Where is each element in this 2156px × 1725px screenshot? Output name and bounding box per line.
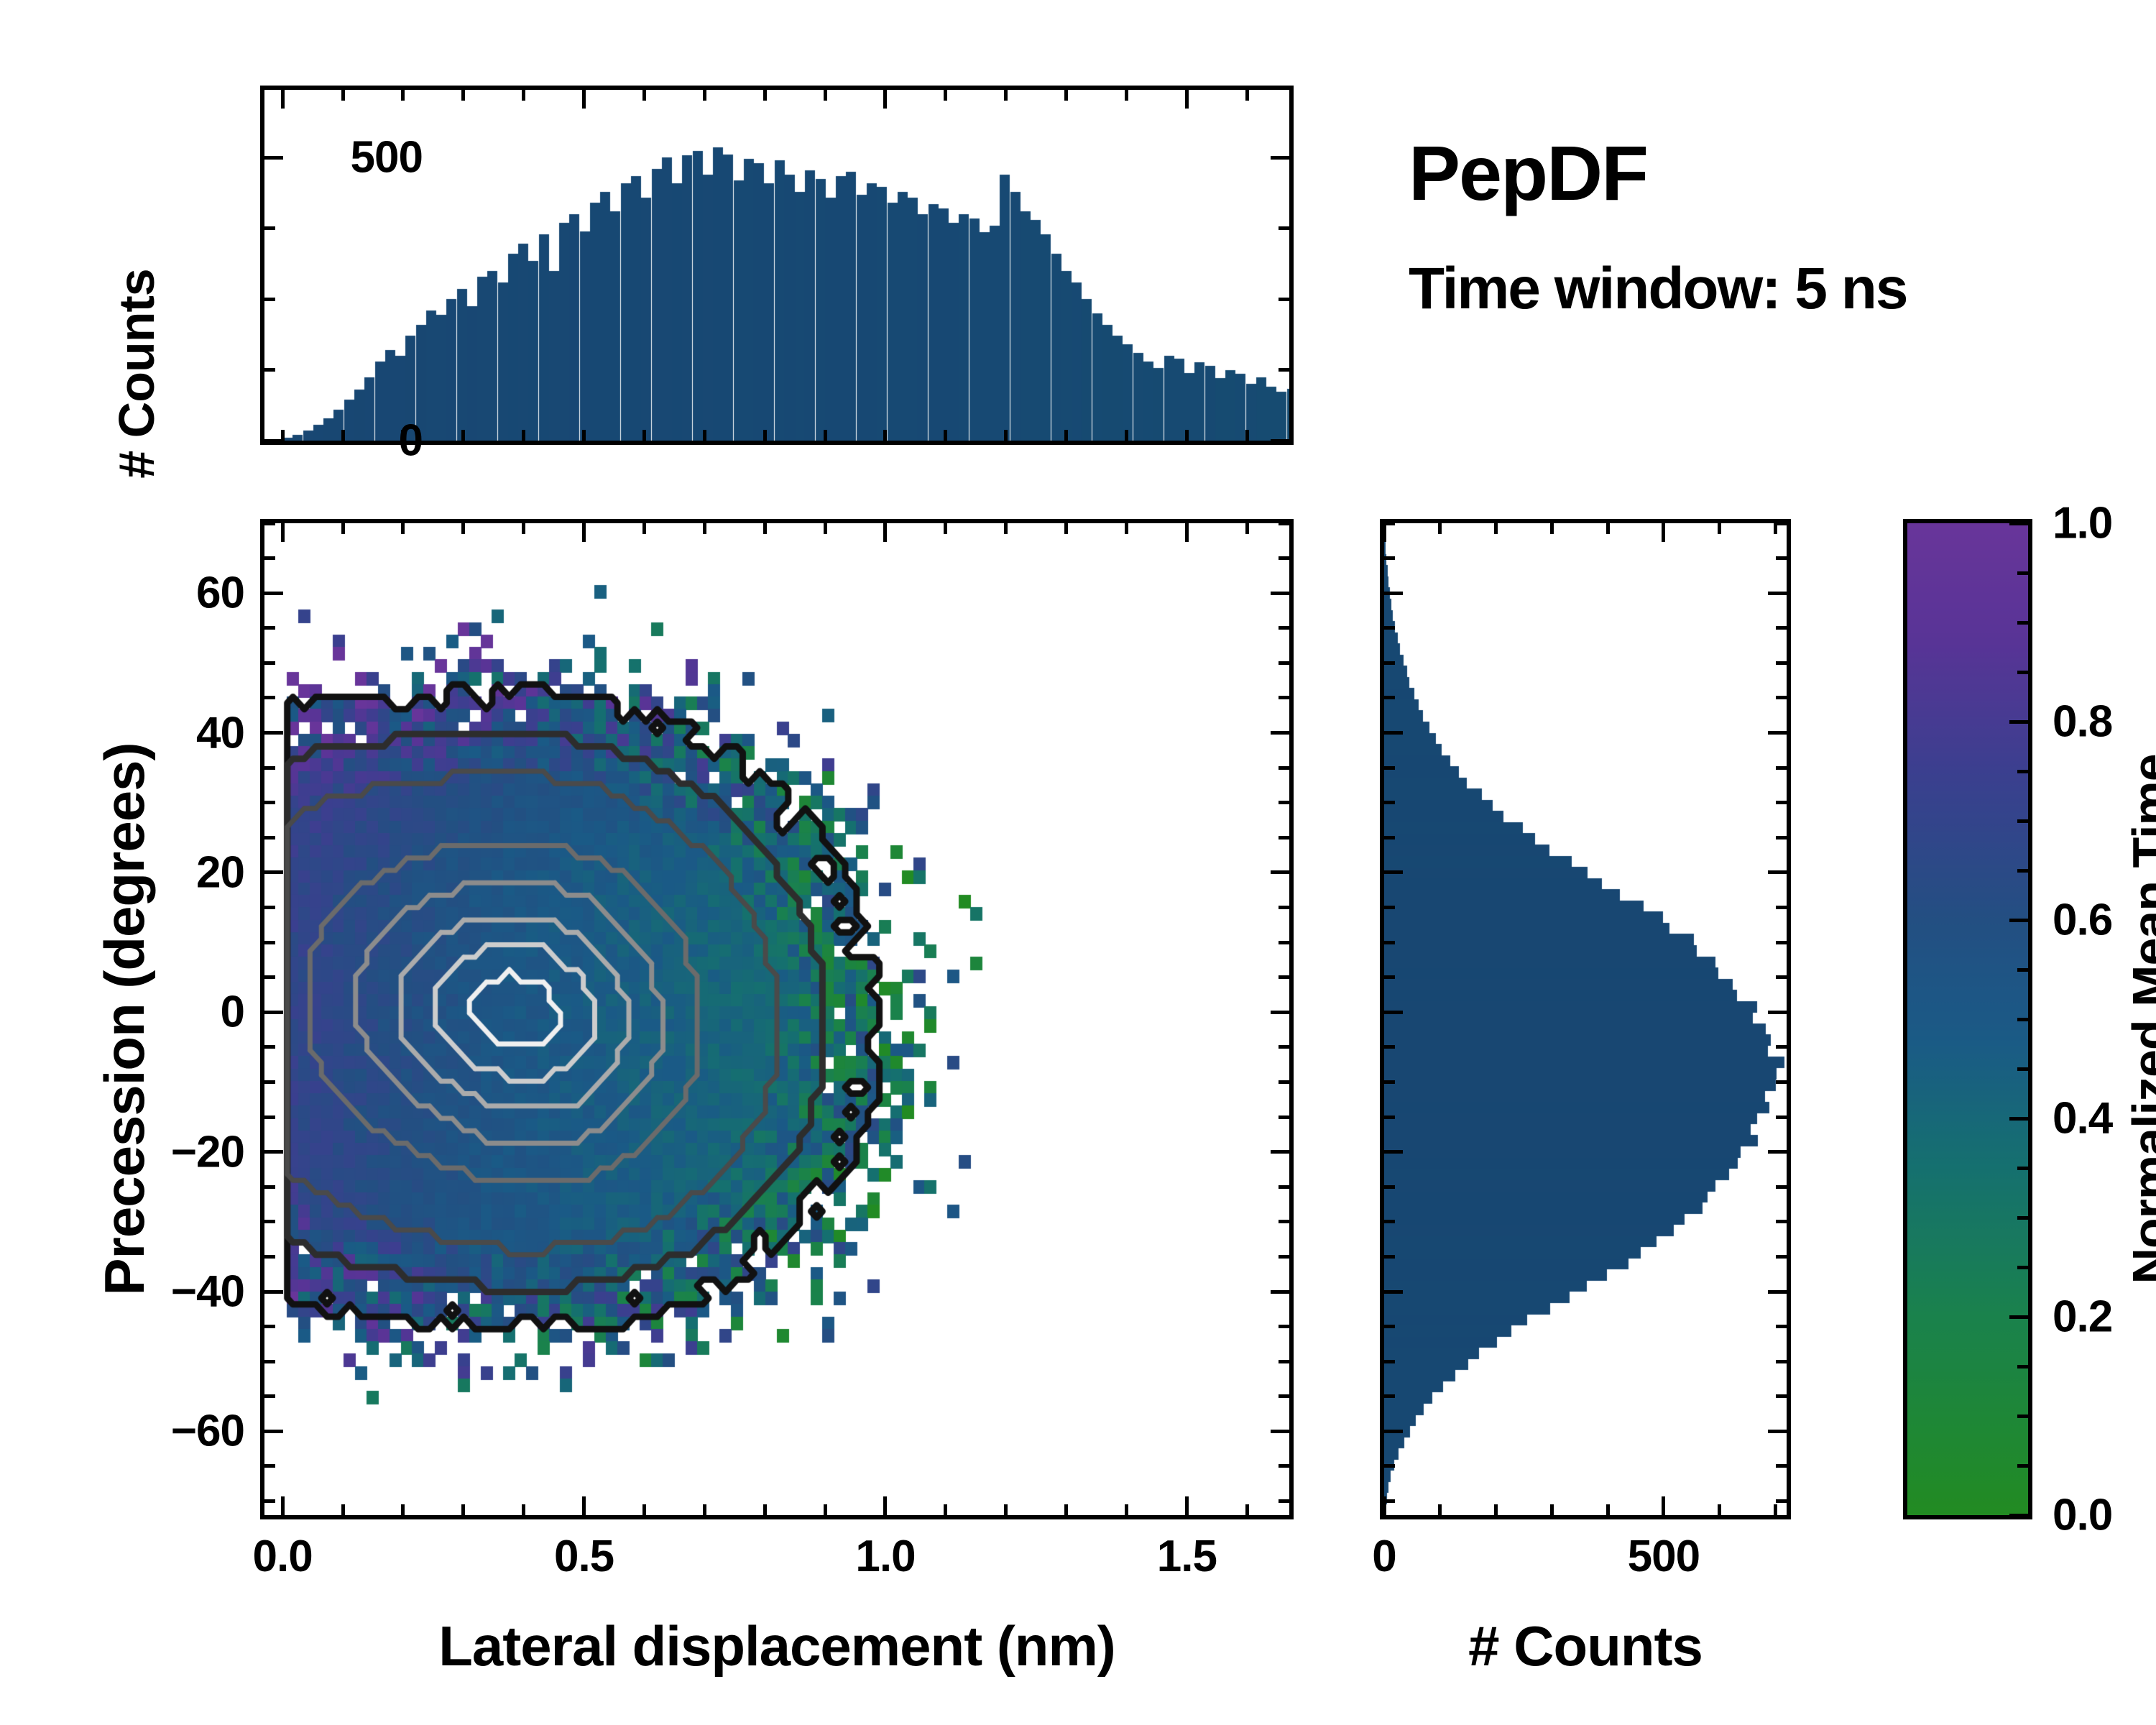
top-ytick-minor-right bbox=[1279, 439, 1289, 443]
right-xtick-minor-top bbox=[1550, 523, 1554, 534]
top-xtick-minor bbox=[763, 90, 767, 101]
main-xtick-minor bbox=[703, 1504, 706, 1515]
right-ytick-major bbox=[1384, 1430, 1403, 1433]
main-ytick-minor bbox=[264, 975, 275, 979]
colorbar-tick-minor bbox=[2017, 671, 2028, 674]
colorbar-tick-major bbox=[2009, 919, 2028, 922]
main-ytick-minor-right bbox=[1279, 696, 1289, 699]
main-ytick-minor-right bbox=[1279, 1045, 1289, 1049]
main-ytick-minor-right bbox=[1279, 836, 1289, 839]
top-xtick-minor-bottom bbox=[341, 430, 345, 441]
colorbar-tick-major bbox=[2009, 1315, 2028, 1319]
colorbar-label: Normalized Mean Time bbox=[2122, 754, 2156, 1284]
top-xtick-minor bbox=[944, 90, 947, 101]
main-xtick-minor bbox=[401, 1504, 405, 1515]
colorbar-tick-minor bbox=[2017, 1167, 2028, 1170]
right-ytick-minor-right bbox=[1776, 975, 1787, 979]
right-ytick-minor bbox=[1384, 1185, 1395, 1189]
top-xtick-minor bbox=[883, 90, 887, 101]
main-ytick-minor bbox=[264, 626, 275, 630]
right-panel-xlabel: # Counts bbox=[1468, 1614, 1703, 1679]
colorbar-tick-minor bbox=[2017, 1018, 2028, 1021]
main-ytick-major-right bbox=[1271, 1290, 1289, 1294]
right-xtick-major-top bbox=[1662, 523, 1665, 542]
right-ytick-minor-right bbox=[1776, 1255, 1787, 1259]
top-panel-ylabel: # Counts bbox=[108, 269, 165, 478]
main-ytick-major-right bbox=[1271, 1011, 1289, 1014]
colorbar-tick-minor bbox=[2017, 968, 2028, 972]
main-ytick-minor-right bbox=[1279, 1325, 1289, 1328]
right-ytick-minor bbox=[1384, 975, 1395, 979]
right-ytick-minor-right bbox=[1776, 941, 1787, 944]
top-xtick-minor bbox=[703, 90, 706, 101]
top-xtick-minor-bottom bbox=[582, 430, 586, 441]
right-ytick-minor-right bbox=[1776, 1394, 1787, 1398]
right-ytick-minor bbox=[1384, 1464, 1395, 1468]
main-ytick-minor-right bbox=[1279, 1080, 1289, 1084]
colorbar-tick-label: 0.8 bbox=[2053, 696, 2156, 747]
right-ytick-minor bbox=[1384, 1394, 1395, 1398]
right-xtick-minor-top bbox=[1438, 523, 1442, 534]
colorbar-tick-minor bbox=[2017, 1414, 2028, 1418]
main-ytick-minor-right bbox=[1279, 522, 1289, 525]
right-ytick-minor-right bbox=[1776, 1115, 1787, 1119]
right-ytick-minor bbox=[1384, 522, 1395, 525]
main-xtick-major-top bbox=[281, 523, 285, 542]
right-ytick-minor bbox=[1384, 1045, 1395, 1049]
top-xtick-minor bbox=[522, 90, 525, 101]
right-ytick-major bbox=[1384, 1150, 1403, 1154]
top-ytick-minor bbox=[264, 226, 275, 230]
main-ytick-minor bbox=[264, 1499, 275, 1503]
main-xtick-minor-top bbox=[341, 523, 345, 534]
right-xtick-minor-top bbox=[1494, 523, 1498, 534]
main-ytick-minor bbox=[264, 1360, 275, 1363]
right-ytick-minor-right bbox=[1776, 661, 1787, 665]
top-xtick-minor bbox=[461, 90, 465, 101]
right-marginal-panel bbox=[1380, 519, 1791, 1519]
right-ytick-minor-right bbox=[1776, 1220, 1787, 1223]
right-ytick-minor bbox=[1384, 661, 1395, 665]
main-ytick-major bbox=[264, 1150, 283, 1154]
main-ytick-minor-right bbox=[1279, 1185, 1289, 1189]
figure-root: 0500 # Counts 0.00.51.01.56040200−20−40−… bbox=[0, 0, 2156, 1725]
main-xtick-minor bbox=[763, 1504, 767, 1515]
top-xtick-minor-bottom bbox=[642, 430, 646, 441]
top-xtick-minor-bottom bbox=[461, 430, 465, 441]
main-ytick-minor bbox=[264, 661, 275, 665]
right-xtick-minor-top bbox=[1718, 523, 1721, 534]
main-xtick-minor bbox=[461, 1504, 465, 1515]
top-xtick-minor-bottom bbox=[522, 430, 525, 441]
main-ytick-minor bbox=[264, 1325, 275, 1328]
right-ytick-major-right bbox=[1768, 1290, 1787, 1294]
right-ytick-minor bbox=[1384, 836, 1395, 839]
top-xtick-minor-bottom bbox=[883, 430, 887, 441]
main-ytick-major bbox=[264, 870, 283, 874]
main-ytick-minor bbox=[264, 1464, 275, 1468]
top-ytick-minor-right bbox=[1279, 226, 1289, 230]
main-xtick-minor-top bbox=[461, 523, 465, 534]
figure-title: PepDF bbox=[1409, 128, 1647, 218]
main-panel-xlabel: Lateral displacement (nm) bbox=[438, 1614, 1115, 1679]
right-ytick-minor bbox=[1384, 906, 1395, 909]
main-xtick-minor-top bbox=[763, 523, 767, 534]
main-xtick-minor-top bbox=[824, 523, 827, 534]
colorbar-tick-minor bbox=[2017, 1266, 2028, 1269]
top-xtick-minor-bottom bbox=[1245, 430, 1249, 441]
main-ytick-minor-right bbox=[1279, 906, 1289, 909]
main-xtick-major bbox=[582, 1496, 586, 1515]
right-xtick-label: 500 bbox=[1628, 1531, 1700, 1582]
main-xtick-label: 0.5 bbox=[554, 1531, 614, 1582]
main-xtick-label: 1.5 bbox=[1157, 1531, 1217, 1582]
right-xtick-minor bbox=[1606, 1504, 1610, 1515]
main-ytick-minor bbox=[264, 941, 275, 944]
right-ytick-minor-right bbox=[1776, 1360, 1787, 1363]
main-ytick-minor bbox=[264, 1255, 275, 1259]
right-ytick-minor bbox=[1384, 1115, 1395, 1119]
top-xtick-minor bbox=[642, 90, 646, 101]
main-ytick-minor-right bbox=[1279, 1499, 1289, 1503]
right-ytick-minor bbox=[1384, 941, 1395, 944]
right-ytick-major-right bbox=[1768, 870, 1787, 874]
top-xtick-minor-bottom bbox=[401, 430, 405, 441]
main-xtick-major-top bbox=[1185, 523, 1189, 542]
right-ytick-major bbox=[1384, 870, 1403, 874]
right-ytick-minor-right bbox=[1776, 1045, 1787, 1049]
right-xtick-minor bbox=[1494, 1504, 1498, 1515]
main-ytick-minor-right bbox=[1279, 975, 1289, 979]
top-xtick-minor-bottom bbox=[281, 430, 285, 441]
right-ytick-major bbox=[1384, 1290, 1403, 1294]
main-xtick-minor bbox=[522, 1504, 525, 1515]
right-ytick-minor bbox=[1384, 696, 1395, 699]
main-ytick-minor-right bbox=[1279, 941, 1289, 944]
main-ytick-minor-right bbox=[1279, 766, 1289, 770]
top-ytick-minor bbox=[264, 368, 275, 372]
main-ytick-minor-right bbox=[1279, 1464, 1289, 1468]
top-ytick-minor-right bbox=[1279, 156, 1289, 160]
right-ytick-major bbox=[1384, 1011, 1403, 1014]
right-ytick-minor-right bbox=[1776, 556, 1787, 560]
colorbar-tick-major bbox=[2009, 1514, 2028, 1517]
main-xtick-minor bbox=[642, 1504, 646, 1515]
top-ytick-label: 500 bbox=[243, 132, 423, 183]
main-ytick-minor bbox=[264, 1220, 275, 1223]
right-ytick-minor-right bbox=[1776, 1464, 1787, 1468]
main-ytick-major-right bbox=[1271, 731, 1289, 735]
colorbar-tick-minor bbox=[2017, 1365, 2028, 1368]
right-xtick-minor-top bbox=[1606, 523, 1610, 534]
main-ytick-major-right bbox=[1271, 592, 1289, 595]
colorbar-tick-label: 1.0 bbox=[2053, 498, 2156, 549]
top-xtick-minor bbox=[1004, 90, 1008, 101]
main-ytick-label: 60 bbox=[49, 568, 244, 619]
main-ytick-minor-right bbox=[1279, 1394, 1289, 1398]
main-ytick-minor bbox=[264, 1185, 275, 1189]
right-ytick-minor bbox=[1384, 626, 1395, 630]
main-ytick-minor-right bbox=[1279, 1360, 1289, 1363]
main-ytick-minor bbox=[264, 1080, 275, 1084]
main-xtick-minor-top bbox=[1125, 523, 1128, 534]
main-ytick-minor-right bbox=[1279, 801, 1289, 804]
right-ytick-minor-right bbox=[1776, 906, 1787, 909]
top-xtick-minor-bottom bbox=[1064, 430, 1068, 441]
main-xtick-label: 0.0 bbox=[253, 1531, 313, 1582]
main-ytick-minor-right bbox=[1279, 556, 1289, 560]
main-ytick-major-right bbox=[1271, 870, 1289, 874]
right-ytick-major bbox=[1384, 731, 1403, 735]
right-ytick-minor-right bbox=[1776, 1185, 1787, 1189]
top-ytick-minor-right bbox=[1279, 298, 1289, 301]
main-ytick-major bbox=[264, 592, 283, 595]
top-xtick-minor bbox=[824, 90, 827, 101]
top-ytick-minor-right bbox=[1279, 368, 1289, 372]
colorbar-tick-label: 0.0 bbox=[2053, 1490, 2156, 1541]
main-xtick-minor bbox=[1245, 1504, 1249, 1515]
colorbar-tick-minor bbox=[2017, 571, 2028, 575]
top-xtick-minor bbox=[1245, 90, 1249, 101]
top-xtick-minor-bottom bbox=[944, 430, 947, 441]
right-xtick-label: 0 bbox=[1372, 1531, 1396, 1582]
main-xtick-minor bbox=[944, 1504, 947, 1515]
right-ytick-minor bbox=[1384, 1360, 1395, 1363]
right-ytick-minor bbox=[1384, 1325, 1395, 1328]
right-ytick-minor-right bbox=[1776, 696, 1787, 699]
colorbar-tick-minor bbox=[2017, 1067, 2028, 1071]
main-xtick-minor-top bbox=[1064, 523, 1068, 534]
top-xtick-minor-bottom bbox=[703, 430, 706, 441]
right-xtick-major bbox=[1662, 1496, 1665, 1515]
main-xtick-minor-top bbox=[401, 523, 405, 534]
right-ytick-major bbox=[1384, 592, 1403, 595]
right-ytick-minor-right bbox=[1776, 836, 1787, 839]
top-xtick-minor bbox=[341, 90, 345, 101]
top-xtick-minor bbox=[1125, 90, 1128, 101]
colorbar-gradient bbox=[1907, 523, 2028, 1515]
right-ytick-major-right bbox=[1768, 1011, 1787, 1014]
right-ytick-minor bbox=[1384, 1080, 1395, 1084]
top-xtick-minor-bottom bbox=[1185, 430, 1189, 441]
right-ytick-major-right bbox=[1768, 731, 1787, 735]
top-xtick-minor-bottom bbox=[763, 430, 767, 441]
top-xtick-minor bbox=[1064, 90, 1068, 101]
right-ytick-major-right bbox=[1768, 1430, 1787, 1433]
right-xtick-major-top bbox=[1383, 523, 1386, 542]
colorbar-tick-minor bbox=[2017, 1216, 2028, 1220]
main-ytick-minor bbox=[264, 836, 275, 839]
top-xtick-minor-bottom bbox=[824, 430, 827, 441]
top-xtick-minor-bottom bbox=[1004, 430, 1008, 441]
main-xtick-minor bbox=[1125, 1504, 1128, 1515]
main-ytick-major-right bbox=[1271, 1150, 1289, 1154]
density-contour-canvas bbox=[264, 523, 1289, 1515]
right-ytick-minor-right bbox=[1776, 801, 1787, 804]
top-xtick-minor bbox=[401, 90, 405, 101]
main-ytick-major-right bbox=[1271, 1430, 1289, 1433]
main-ytick-minor-right bbox=[1279, 1220, 1289, 1223]
main-ytick-minor-right bbox=[1279, 1255, 1289, 1259]
right-ytick-minor bbox=[1384, 1220, 1395, 1223]
colorbar-tick-minor bbox=[2017, 819, 2028, 823]
main-xtick-minor-top bbox=[522, 523, 525, 534]
top-ytick-label: 0 bbox=[243, 415, 423, 466]
top-xtick-minor bbox=[582, 90, 586, 101]
main-panel-ylabel: Precession (degrees) bbox=[92, 742, 157, 1295]
main-xtick-minor bbox=[341, 1504, 345, 1515]
main-ytick-minor-right bbox=[1279, 1115, 1289, 1119]
right-ytick-minor-right bbox=[1776, 626, 1787, 630]
main-xtick-minor bbox=[824, 1504, 827, 1515]
right-ytick-minor bbox=[1384, 801, 1395, 804]
main-xtick-major bbox=[883, 1496, 887, 1515]
right-ytick-minor-right bbox=[1776, 1499, 1787, 1503]
colorbar bbox=[1903, 519, 2032, 1519]
main-ytick-minor-right bbox=[1279, 661, 1289, 665]
colorbar-tick-minor bbox=[2017, 621, 2028, 625]
colorbar-tick-major bbox=[2009, 522, 2028, 525]
top-xtick-minor bbox=[281, 90, 285, 101]
main-ytick-minor bbox=[264, 906, 275, 909]
main-ytick-major bbox=[264, 1290, 283, 1294]
top-xtick-minor-bottom bbox=[1125, 430, 1128, 441]
figure-subtitle: Time window: 5 ns bbox=[1409, 255, 1907, 323]
main-xtick-minor bbox=[1064, 1504, 1068, 1515]
right-ytick-minor-right bbox=[1776, 1325, 1787, 1328]
right-ytick-minor bbox=[1384, 1499, 1395, 1503]
colorbar-tick-label: 0.2 bbox=[2053, 1292, 2156, 1343]
main-xtick-minor-top bbox=[944, 523, 947, 534]
right-ytick-minor bbox=[1384, 766, 1395, 770]
top-ytick-minor bbox=[264, 298, 275, 301]
main-xtick-minor-top bbox=[1245, 523, 1249, 534]
main-ytick-minor bbox=[264, 766, 275, 770]
right-ytick-minor-right bbox=[1776, 522, 1787, 525]
main-ytick-minor bbox=[264, 556, 275, 560]
colorbar-tick-major bbox=[2009, 720, 2028, 724]
right-ytick-major-right bbox=[1768, 592, 1787, 595]
top-xtick-minor bbox=[1185, 90, 1189, 101]
colorbar-tick-major bbox=[2009, 1117, 2028, 1121]
main-ytick-minor bbox=[264, 801, 275, 804]
main-ytick-minor-right bbox=[1279, 626, 1289, 630]
main-joint-panel bbox=[260, 519, 1294, 1519]
main-xtick-major-top bbox=[582, 523, 586, 542]
right-xtick-minor bbox=[1438, 1504, 1442, 1515]
right-xtick-minor bbox=[1774, 1504, 1777, 1515]
main-ytick-major bbox=[264, 1430, 283, 1433]
main-ytick-minor bbox=[264, 522, 275, 525]
right-xtick-minor bbox=[1718, 1504, 1721, 1515]
main-ytick-minor bbox=[264, 1115, 275, 1119]
main-ytick-minor bbox=[264, 696, 275, 699]
main-xtick-minor bbox=[1004, 1504, 1008, 1515]
main-ytick-minor bbox=[264, 1394, 275, 1398]
main-xtick-major bbox=[1185, 1496, 1189, 1515]
main-xtick-minor-top bbox=[703, 523, 706, 534]
main-xtick-minor-top bbox=[642, 523, 646, 534]
main-xtick-major bbox=[281, 1496, 285, 1515]
main-ytick-major bbox=[264, 731, 283, 735]
main-xtick-major-top bbox=[883, 523, 887, 542]
right-ytick-minor-right bbox=[1776, 766, 1787, 770]
right-xtick-minor bbox=[1550, 1504, 1554, 1515]
main-ytick-major bbox=[264, 1011, 283, 1014]
right-ytick-minor bbox=[1384, 1255, 1395, 1259]
right-ytick-major-right bbox=[1768, 1150, 1787, 1154]
colorbar-tick-minor bbox=[2017, 770, 2028, 773]
main-xtick-minor-top bbox=[1004, 523, 1008, 534]
main-ytick-minor bbox=[264, 1045, 275, 1049]
main-ytick-label: −60 bbox=[49, 1406, 244, 1457]
right-ytick-minor-right bbox=[1776, 1080, 1787, 1084]
colorbar-tick-minor bbox=[2017, 1464, 2028, 1468]
colorbar-tick-minor bbox=[2017, 869, 2028, 873]
right-histogram-canvas bbox=[1384, 523, 1787, 1515]
main-xtick-label: 1.0 bbox=[855, 1531, 915, 1582]
right-ytick-minor bbox=[1384, 556, 1395, 560]
